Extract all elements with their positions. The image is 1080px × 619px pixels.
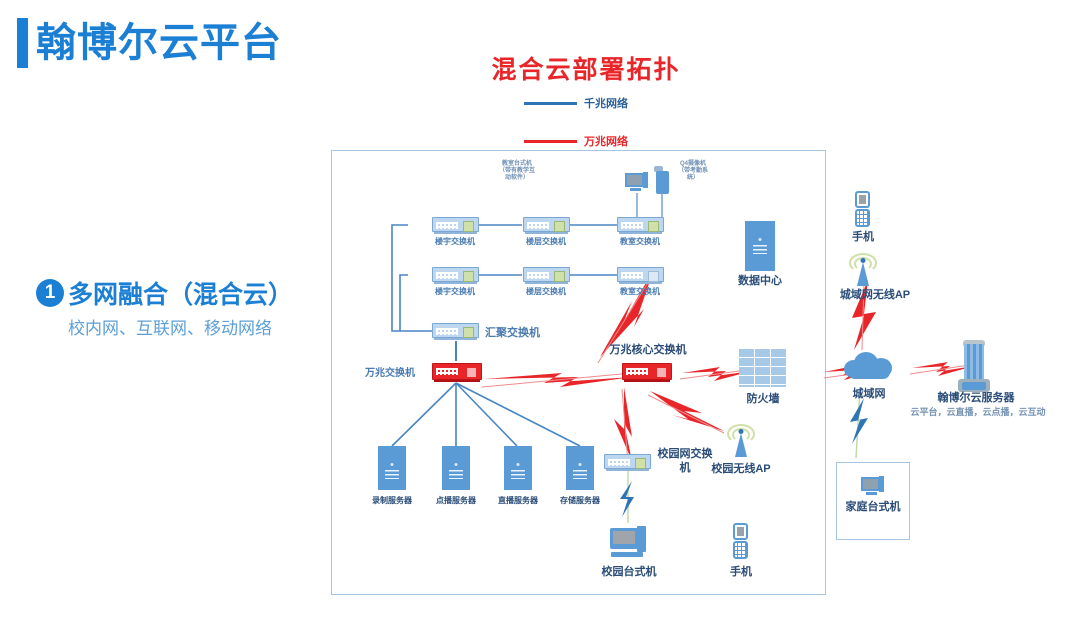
- aggregation-switch-label: 汇聚交换机: [485, 327, 540, 340]
- floor-switch-2-label: 楼层交换机: [500, 287, 592, 296]
- building-switch-2-label: 楼宇交换机: [409, 287, 501, 296]
- feature-subtitle: 校内网、互联网、移动网络: [68, 314, 326, 339]
- building-switch-1-label: 楼宇交换机: [409, 237, 501, 246]
- campus-switch-to-pc-link: [620, 471, 634, 523]
- feature-title-row: 1 多网融合（混合云）: [36, 275, 326, 311]
- classroom-switch-2-label: 教室交换机: [594, 287, 686, 296]
- ten-gigabit-core-switch-label: 万兆核心交换机: [602, 344, 694, 357]
- legend-line-gigabit: [524, 102, 577, 105]
- cloud-server-icon: [958, 340, 990, 394]
- man-phone-icon: [854, 191, 871, 227]
- campus-pc-label: 校园台式机: [590, 566, 668, 579]
- mobile-phone-icon: [732, 523, 749, 559]
- storage-server-icon: [566, 446, 594, 490]
- campus-pc-icon: [610, 526, 650, 560]
- campus-switch-icon[interactable]: [604, 454, 651, 469]
- ten-gigabit-guide-lines: [482, 273, 754, 463]
- feature-title: 多网融合（混合云）: [68, 275, 293, 311]
- home-pc-label: 家庭台式机: [843, 501, 903, 514]
- classroom-pc-label: 教室台式机（带有教学互动软件）: [498, 161, 536, 182]
- man-phone-label: 手机: [833, 231, 893, 244]
- diagram-title: 混合云部署拓扑: [0, 50, 1080, 86]
- aggregation-switch-icon[interactable]: [432, 323, 479, 338]
- floor-switch-1-label: 楼层交换机: [500, 237, 592, 246]
- man-ap-icon: [846, 252, 880, 286]
- man-cloud-icon: [840, 350, 898, 380]
- mobile-phone-label: 手机: [707, 566, 775, 579]
- legend-label-gigabit: 千兆网络: [584, 95, 628, 111]
- legend-item-ten-gigabit: 万兆网络: [524, 133, 628, 149]
- data-center-label: 数据中心: [722, 275, 798, 288]
- data-center-icon: [745, 221, 775, 271]
- building-switch-2-icon[interactable]: [432, 267, 479, 282]
- ten-gigabit-core-switch-icon[interactable]: [622, 363, 672, 380]
- firewall-label: 防火墙: [727, 393, 799, 406]
- firewall-icon: [739, 349, 787, 387]
- classroom-switch-2-icon[interactable]: [617, 267, 664, 282]
- campus-ap-label: 校园无线AP: [702, 463, 780, 476]
- cloud-server-label: 翰博尔云服务器: [912, 392, 1040, 405]
- classroom-switch-1-icon[interactable]: [617, 217, 664, 232]
- floor-switch-1-icon[interactable]: [523, 217, 570, 232]
- record-server-icon: [378, 446, 406, 490]
- ten-gigabit-switch-label: 万兆交换机: [352, 368, 428, 380]
- home-pc-box: 家庭台式机: [836, 462, 910, 540]
- topology-canvas: 教室台式机（带有教学互动软件） Q4摄像机（带考勤系统） 楼宇交换机 楼层交换机…: [331, 150, 826, 595]
- home-pc-icon: [861, 477, 885, 496]
- feature-block: 1 多网融合（混合云） 校内网、互联网、移动网络: [36, 275, 326, 339]
- classroom-pc-icon: [625, 173, 649, 192]
- camera-label: Q4摄像机（带考勤系统）: [676, 161, 710, 182]
- diagram-title-text: 混合云部署拓扑: [491, 56, 680, 84]
- live-server-icon: [504, 446, 532, 490]
- vod-server-icon: [442, 446, 470, 490]
- legend-label-ten-gigabit: 万兆网络: [584, 133, 628, 149]
- cloud-server-subtitle: 云平台，云直播，云点播，云互动: [898, 407, 1058, 417]
- ten-gigabit-switch-icon[interactable]: [432, 363, 482, 380]
- legend-item-gigabit: 千兆网络: [524, 95, 628, 111]
- feature-number-badge: 1: [36, 279, 64, 307]
- camera-icon: [654, 165, 670, 195]
- floor-switch-2-icon[interactable]: [523, 267, 570, 282]
- building-switch-1-icon[interactable]: [432, 217, 479, 232]
- classroom-switch-1-label: 教室交换机: [594, 237, 686, 246]
- ten-gigabit-links: [484, 269, 752, 461]
- man-ap-label: 城域网无线AP: [808, 289, 942, 302]
- legend-line-ten-gigabit: [524, 140, 577, 143]
- man-cloud-label: 城域网: [838, 388, 900, 401]
- storage-server-label: 存储服务器: [541, 496, 619, 505]
- campus-ap-icon: [724, 423, 758, 457]
